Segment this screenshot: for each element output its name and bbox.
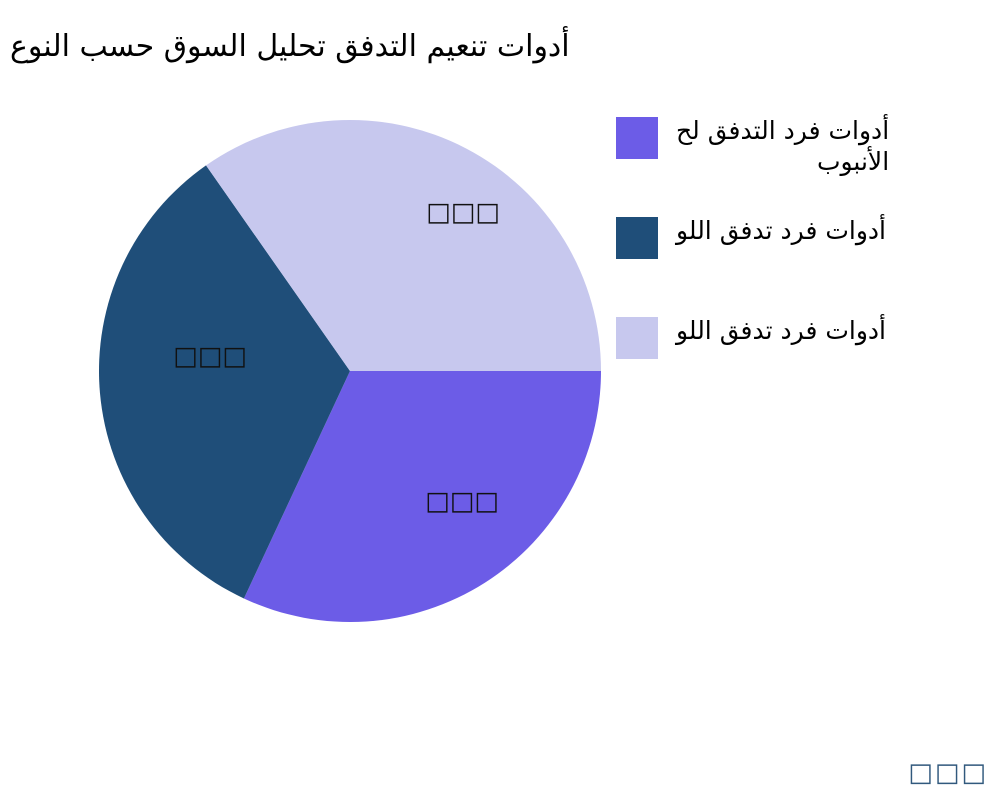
legend-item-label: أدوات فرد التدفق لح الأنبوب	[676, 115, 889, 177]
pie-slice-label: □□□	[173, 342, 247, 372]
legend-swatch-navy	[616, 217, 658, 259]
legend-item-label: أدوات فرد تدفق اللو	[676, 315, 886, 346]
pie-slice-label: □□□	[426, 198, 500, 228]
legend-item[interactable]: أدوات فرد التدفق لح الأنبوب	[616, 115, 1000, 177]
legend-swatch-lavender	[616, 317, 658, 359]
legend-item[interactable]: أدوات فرد تدفق اللو	[616, 215, 1000, 259]
pie-slice-label: □□□	[425, 487, 499, 517]
legend-item-label: أدوات فرد تدفق اللو	[676, 215, 886, 246]
chart-figure: أدوات تنعيم التدفق تحليل السوق حسب النوع…	[0, 0, 1000, 800]
legend-swatch-purple	[616, 117, 658, 159]
legend-item[interactable]: أدوات فرد تدفق اللو	[616, 315, 1000, 359]
footer-note: □□□	[908, 758, 988, 788]
legend: أدوات فرد التدفق لح الأنبوبأدوات فرد تدف…	[616, 115, 1000, 385]
